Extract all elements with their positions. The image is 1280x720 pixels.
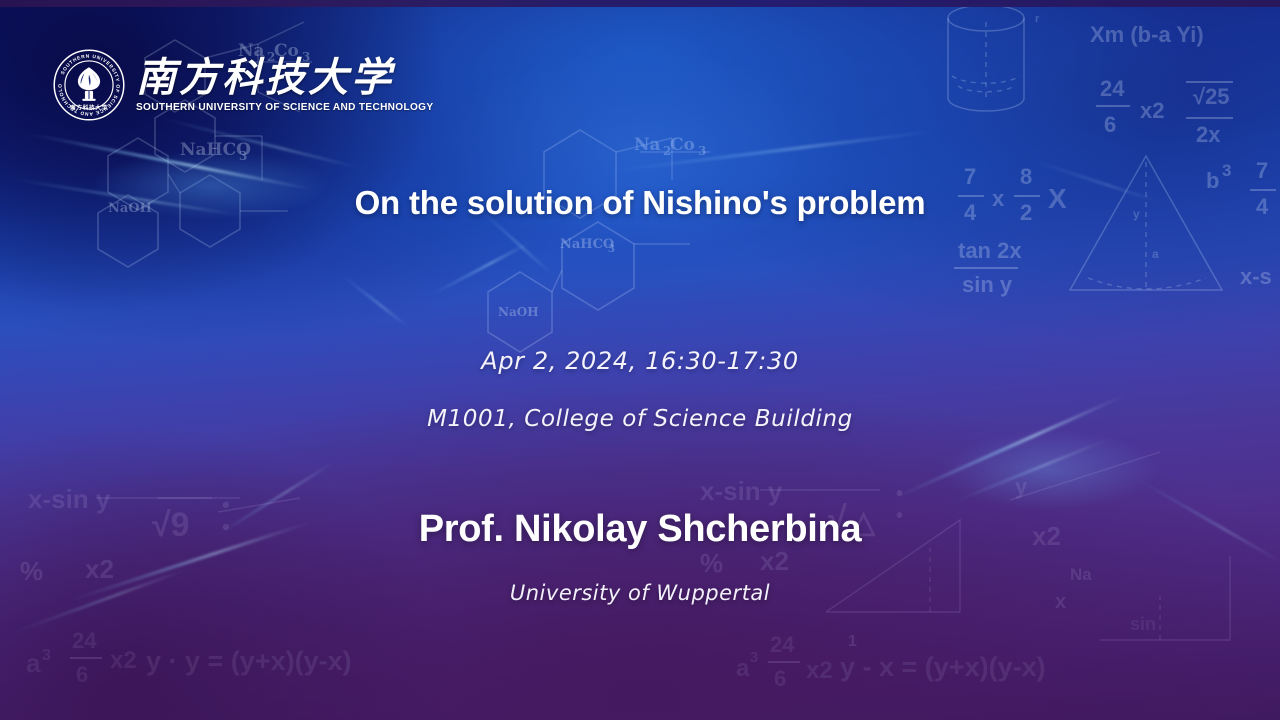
lecture-poster: .hexline { fill: none; stroke: rgba(215,… [0, 0, 1280, 720]
logo-name-english: SOUTHERN UNIVERSITY OF SCIENCE AND TECHN… [136, 101, 433, 113]
sustech-torch-emblem-icon: SOUTHERN UNIVERSITY OF SCIENCE AND TECHN… [52, 48, 126, 122]
logo-name-chinese: 南方科技大学 [136, 57, 446, 99]
speaker-name: Prof. Nikolay Shcherbina [0, 508, 1280, 551]
talk-datetime: Apr 2, 2024, 16:30-17:30 [0, 347, 1280, 375]
speaker-affiliation: University of Wuppertal [0, 581, 1280, 605]
talk-venue: M1001, College of Science Building [0, 406, 1280, 432]
logo-wordmark: 南方科技大学 SOUTHERN UNIVERSITY OF SCIENCE AN… [136, 57, 446, 113]
university-logo: SOUTHERN UNIVERSITY OF SCIENCE AND TECHN… [52, 48, 446, 122]
talk-title: On the solution of Nishino's problem [0, 184, 1280, 222]
